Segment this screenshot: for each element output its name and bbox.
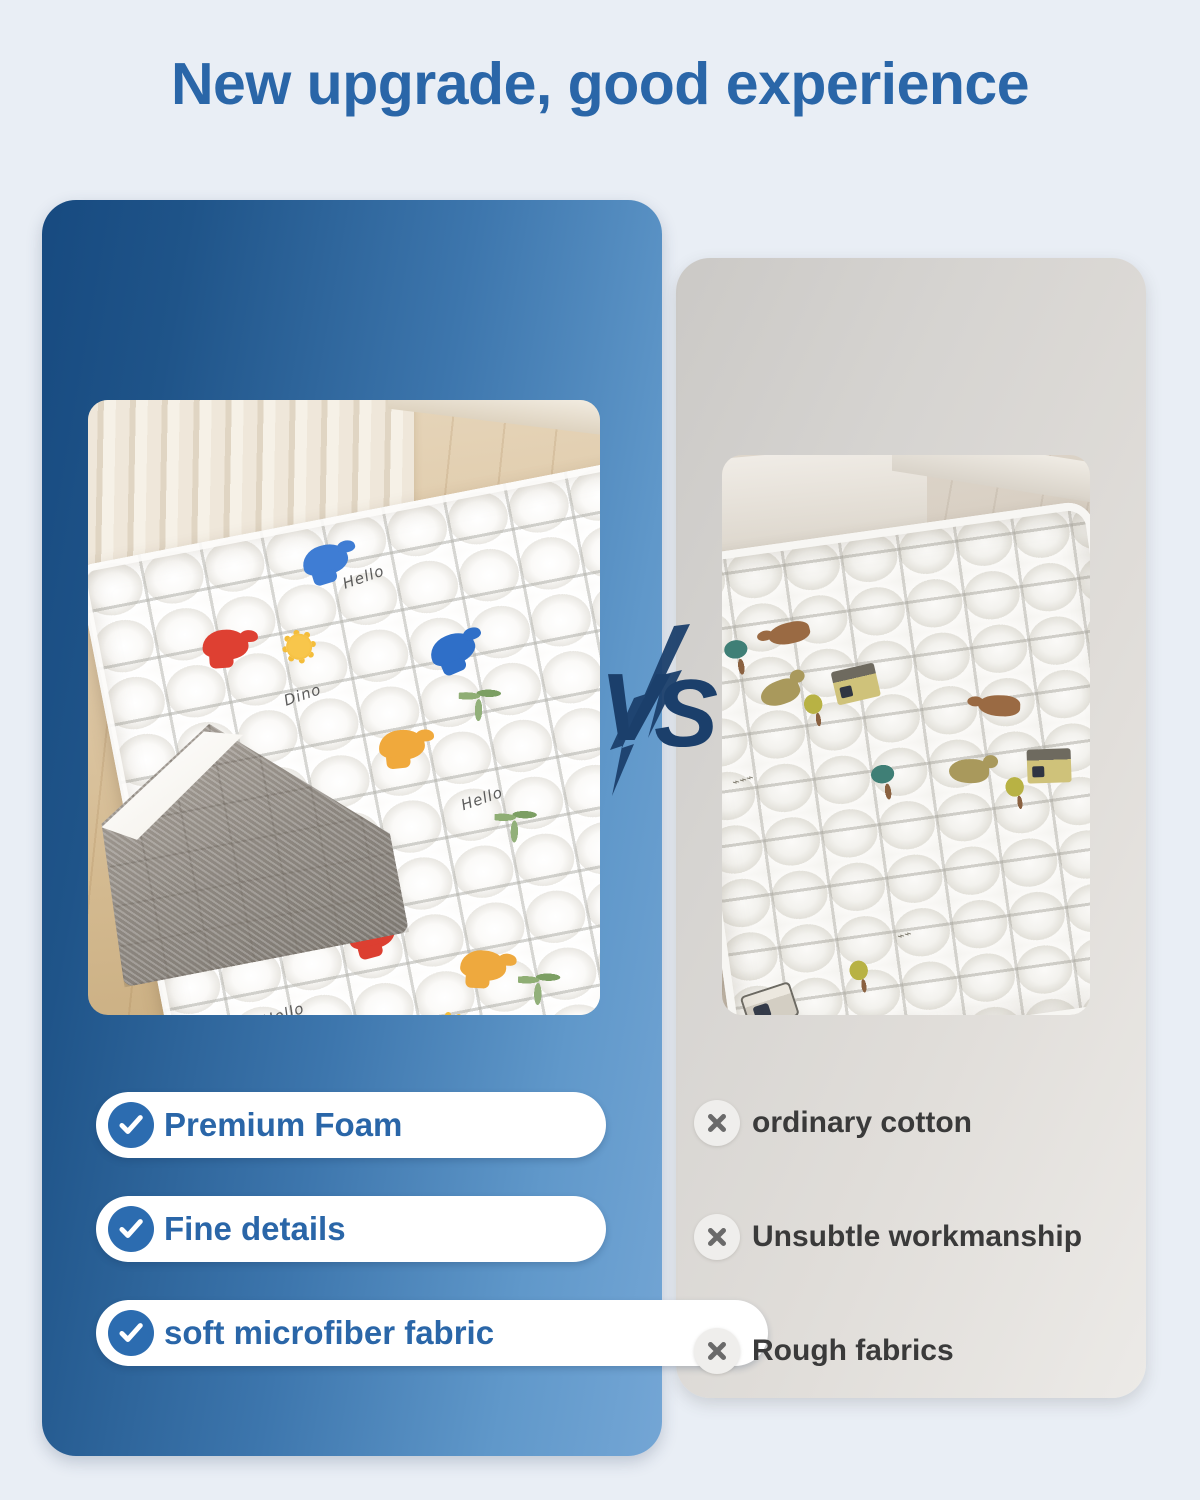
x-icon bbox=[694, 1100, 740, 1146]
ours-feature-label: soft microfiber fabric bbox=[164, 1314, 494, 1352]
others-feature-item-0[interactable]: ordinary cotton bbox=[694, 1094, 1144, 1152]
check-icon bbox=[108, 1102, 154, 1148]
others-feature-label: Unsubtle workmanship bbox=[752, 1220, 1082, 1254]
ours-feature-label: Fine details bbox=[164, 1210, 346, 1248]
x-icon bbox=[694, 1328, 740, 1374]
forest-print-mat: ⌁⌁⌁ ⌁⌁ bbox=[722, 500, 1090, 1015]
others-product-image: ⌁⌁⌁ ⌁⌁ bbox=[722, 455, 1090, 1015]
ours-feature-list: Premium Foam Fine details soft microfibe… bbox=[96, 1092, 616, 1366]
others-feature-item-1[interactable]: Unsubtle workmanship bbox=[694, 1208, 1144, 1266]
others-feature-label: Rough fabrics bbox=[752, 1334, 954, 1368]
page-title: New upgrade, good experience bbox=[0, 50, 1200, 118]
others-feature-label: ordinary cotton bbox=[752, 1106, 972, 1140]
check-icon bbox=[108, 1310, 154, 1356]
others-feature-list: ordinary cotton Unsubtle workmanship Rou… bbox=[694, 1094, 1144, 1380]
ours-feature-item-0[interactable]: Premium Foam bbox=[96, 1092, 606, 1158]
mat-edge bbox=[722, 500, 1090, 1015]
x-icon bbox=[694, 1214, 740, 1260]
others-feature-item-2[interactable]: Rough fabrics bbox=[694, 1322, 1144, 1380]
ours-product-image: Dino Hello Dino Hello Hello bbox=[88, 400, 600, 1015]
check-icon bbox=[108, 1206, 154, 1252]
ours-feature-item-2[interactable]: soft microfiber fabric bbox=[96, 1300, 768, 1366]
ours-feature-label: Premium Foam bbox=[164, 1106, 402, 1144]
ours-feature-item-1[interactable]: Fine details bbox=[96, 1196, 606, 1262]
